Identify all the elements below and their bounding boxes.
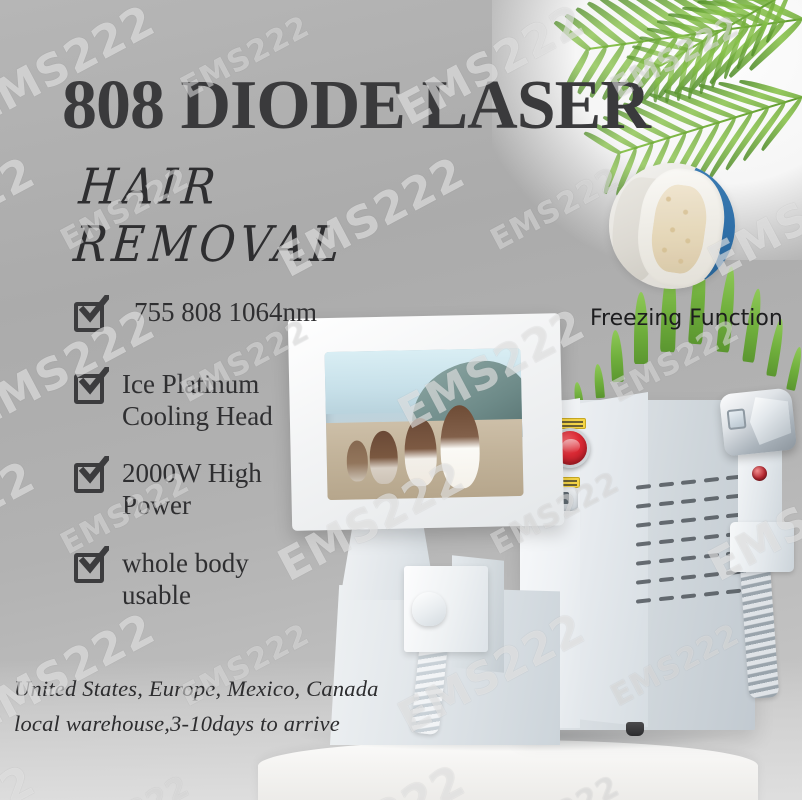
watermark-text: EMS222 <box>390 299 594 440</box>
watermark-text: EMS222 <box>0 603 163 744</box>
watermark-text: EMS222 <box>175 617 316 714</box>
watermark-text: EMS222 <box>700 451 802 592</box>
watermark-text: EMS222 <box>605 313 746 410</box>
watermark-text: EMS222 <box>55 161 196 258</box>
watermark-text: EMS222 <box>390 0 594 136</box>
watermark-text: EMS222 <box>55 769 196 800</box>
watermark-text: EMS222 <box>0 451 43 592</box>
watermark-text: EMS222 <box>605 9 746 106</box>
watermark-text: EMS222 <box>605 617 746 714</box>
watermark-text: EMS222 <box>270 147 474 288</box>
watermark-text: EMS222 <box>485 161 626 258</box>
watermark-text: EMS222 <box>0 147 43 288</box>
watermark-text: EMS222 <box>175 9 316 106</box>
watermark-layer: EMS222EMS222EMS222EMS222EMS222EMS222EMS2… <box>0 0 802 800</box>
watermark-text: EMS222 <box>485 769 626 800</box>
watermark-text: EMS222 <box>270 451 474 592</box>
watermark-text: EMS222 <box>270 755 474 800</box>
product-poster: Freezing Function 808 DIODE LASER HAIR R… <box>0 0 802 800</box>
watermark-text: EMS222 <box>390 603 594 744</box>
watermark-text: EMS222 <box>55 465 196 562</box>
watermark-text: EMS222 <box>700 755 802 800</box>
watermark-text: EMS222 <box>485 465 626 562</box>
watermark-text: EMS222 <box>0 755 43 800</box>
watermark-text: EMS222 <box>175 313 316 410</box>
watermark-text: EMS222 <box>700 147 802 288</box>
watermark-text: EMS222 <box>0 0 163 136</box>
watermark-text: EMS222 <box>0 299 163 440</box>
